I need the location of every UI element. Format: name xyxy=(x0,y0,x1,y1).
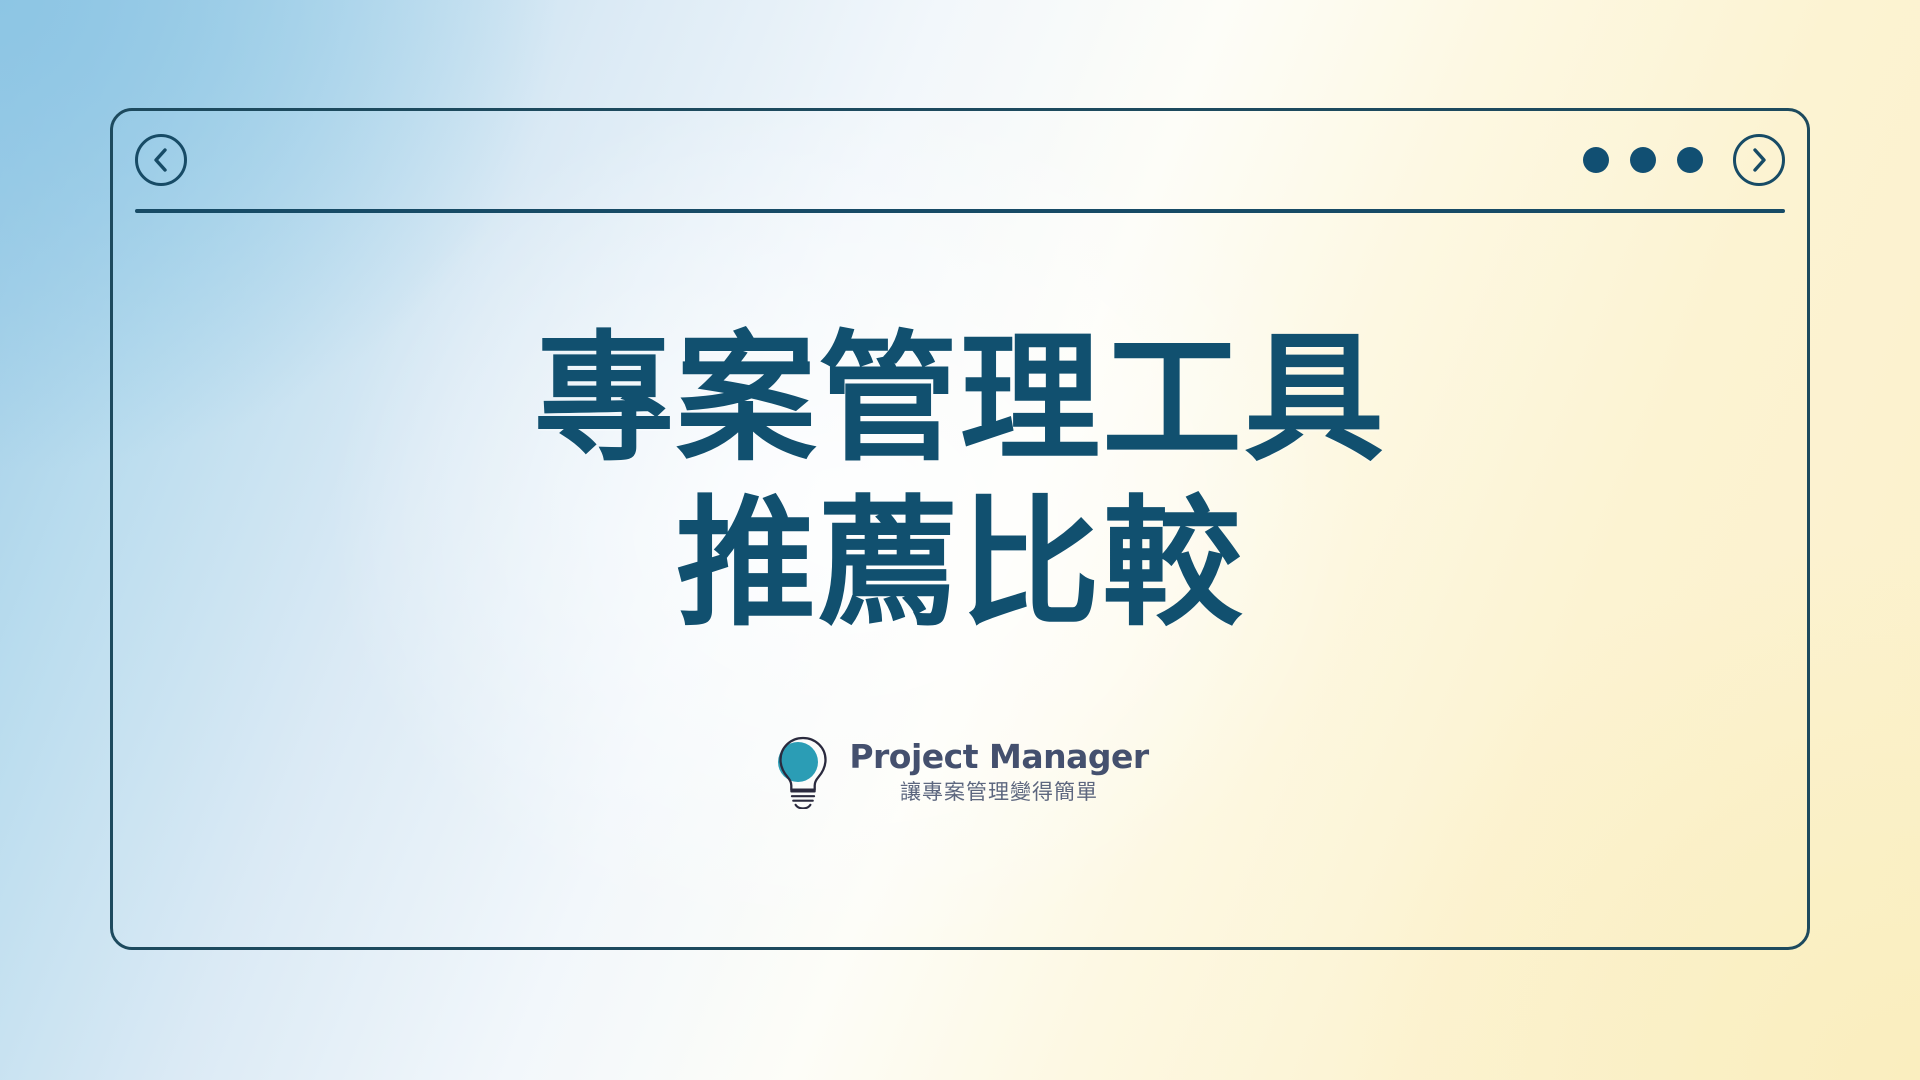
chevron-right-icon xyxy=(1747,146,1771,174)
page-indicator-dots xyxy=(1583,147,1703,173)
browser-card: 專案管理工具 推薦比較 Project Manager 讓專案管理變得簡單 xyxy=(110,108,1810,950)
brand-name: Project Manager xyxy=(849,740,1148,773)
card-body: 專案管理工具 推薦比較 Project Manager 讓專案管理變得簡單 xyxy=(113,213,1807,947)
page-title-line-2: 推薦比較 xyxy=(534,482,1386,647)
brand-logo: Project Manager 讓專案管理變得簡單 xyxy=(771,733,1148,809)
back-button[interactable] xyxy=(135,134,187,186)
slide-canvas: 專案管理工具 推薦比較 Project Manager 讓專案管理變得簡單 xyxy=(0,0,1920,1080)
logo-text-block: Project Manager 讓專案管理變得簡單 xyxy=(849,740,1148,803)
dot-1[interactable] xyxy=(1583,147,1609,173)
chevron-left-icon xyxy=(149,146,173,174)
page-title-line-1: 專案管理工具 xyxy=(534,318,1386,481)
page-title: 專案管理工具 推薦比較 xyxy=(534,317,1386,647)
lightbulb-icon xyxy=(771,733,835,809)
card-header xyxy=(113,111,1807,209)
dot-2[interactable] xyxy=(1630,147,1656,173)
brand-tagline: 讓專案管理變得簡單 xyxy=(900,782,1098,803)
forward-button[interactable] xyxy=(1733,134,1785,186)
dot-3[interactable] xyxy=(1677,147,1703,173)
